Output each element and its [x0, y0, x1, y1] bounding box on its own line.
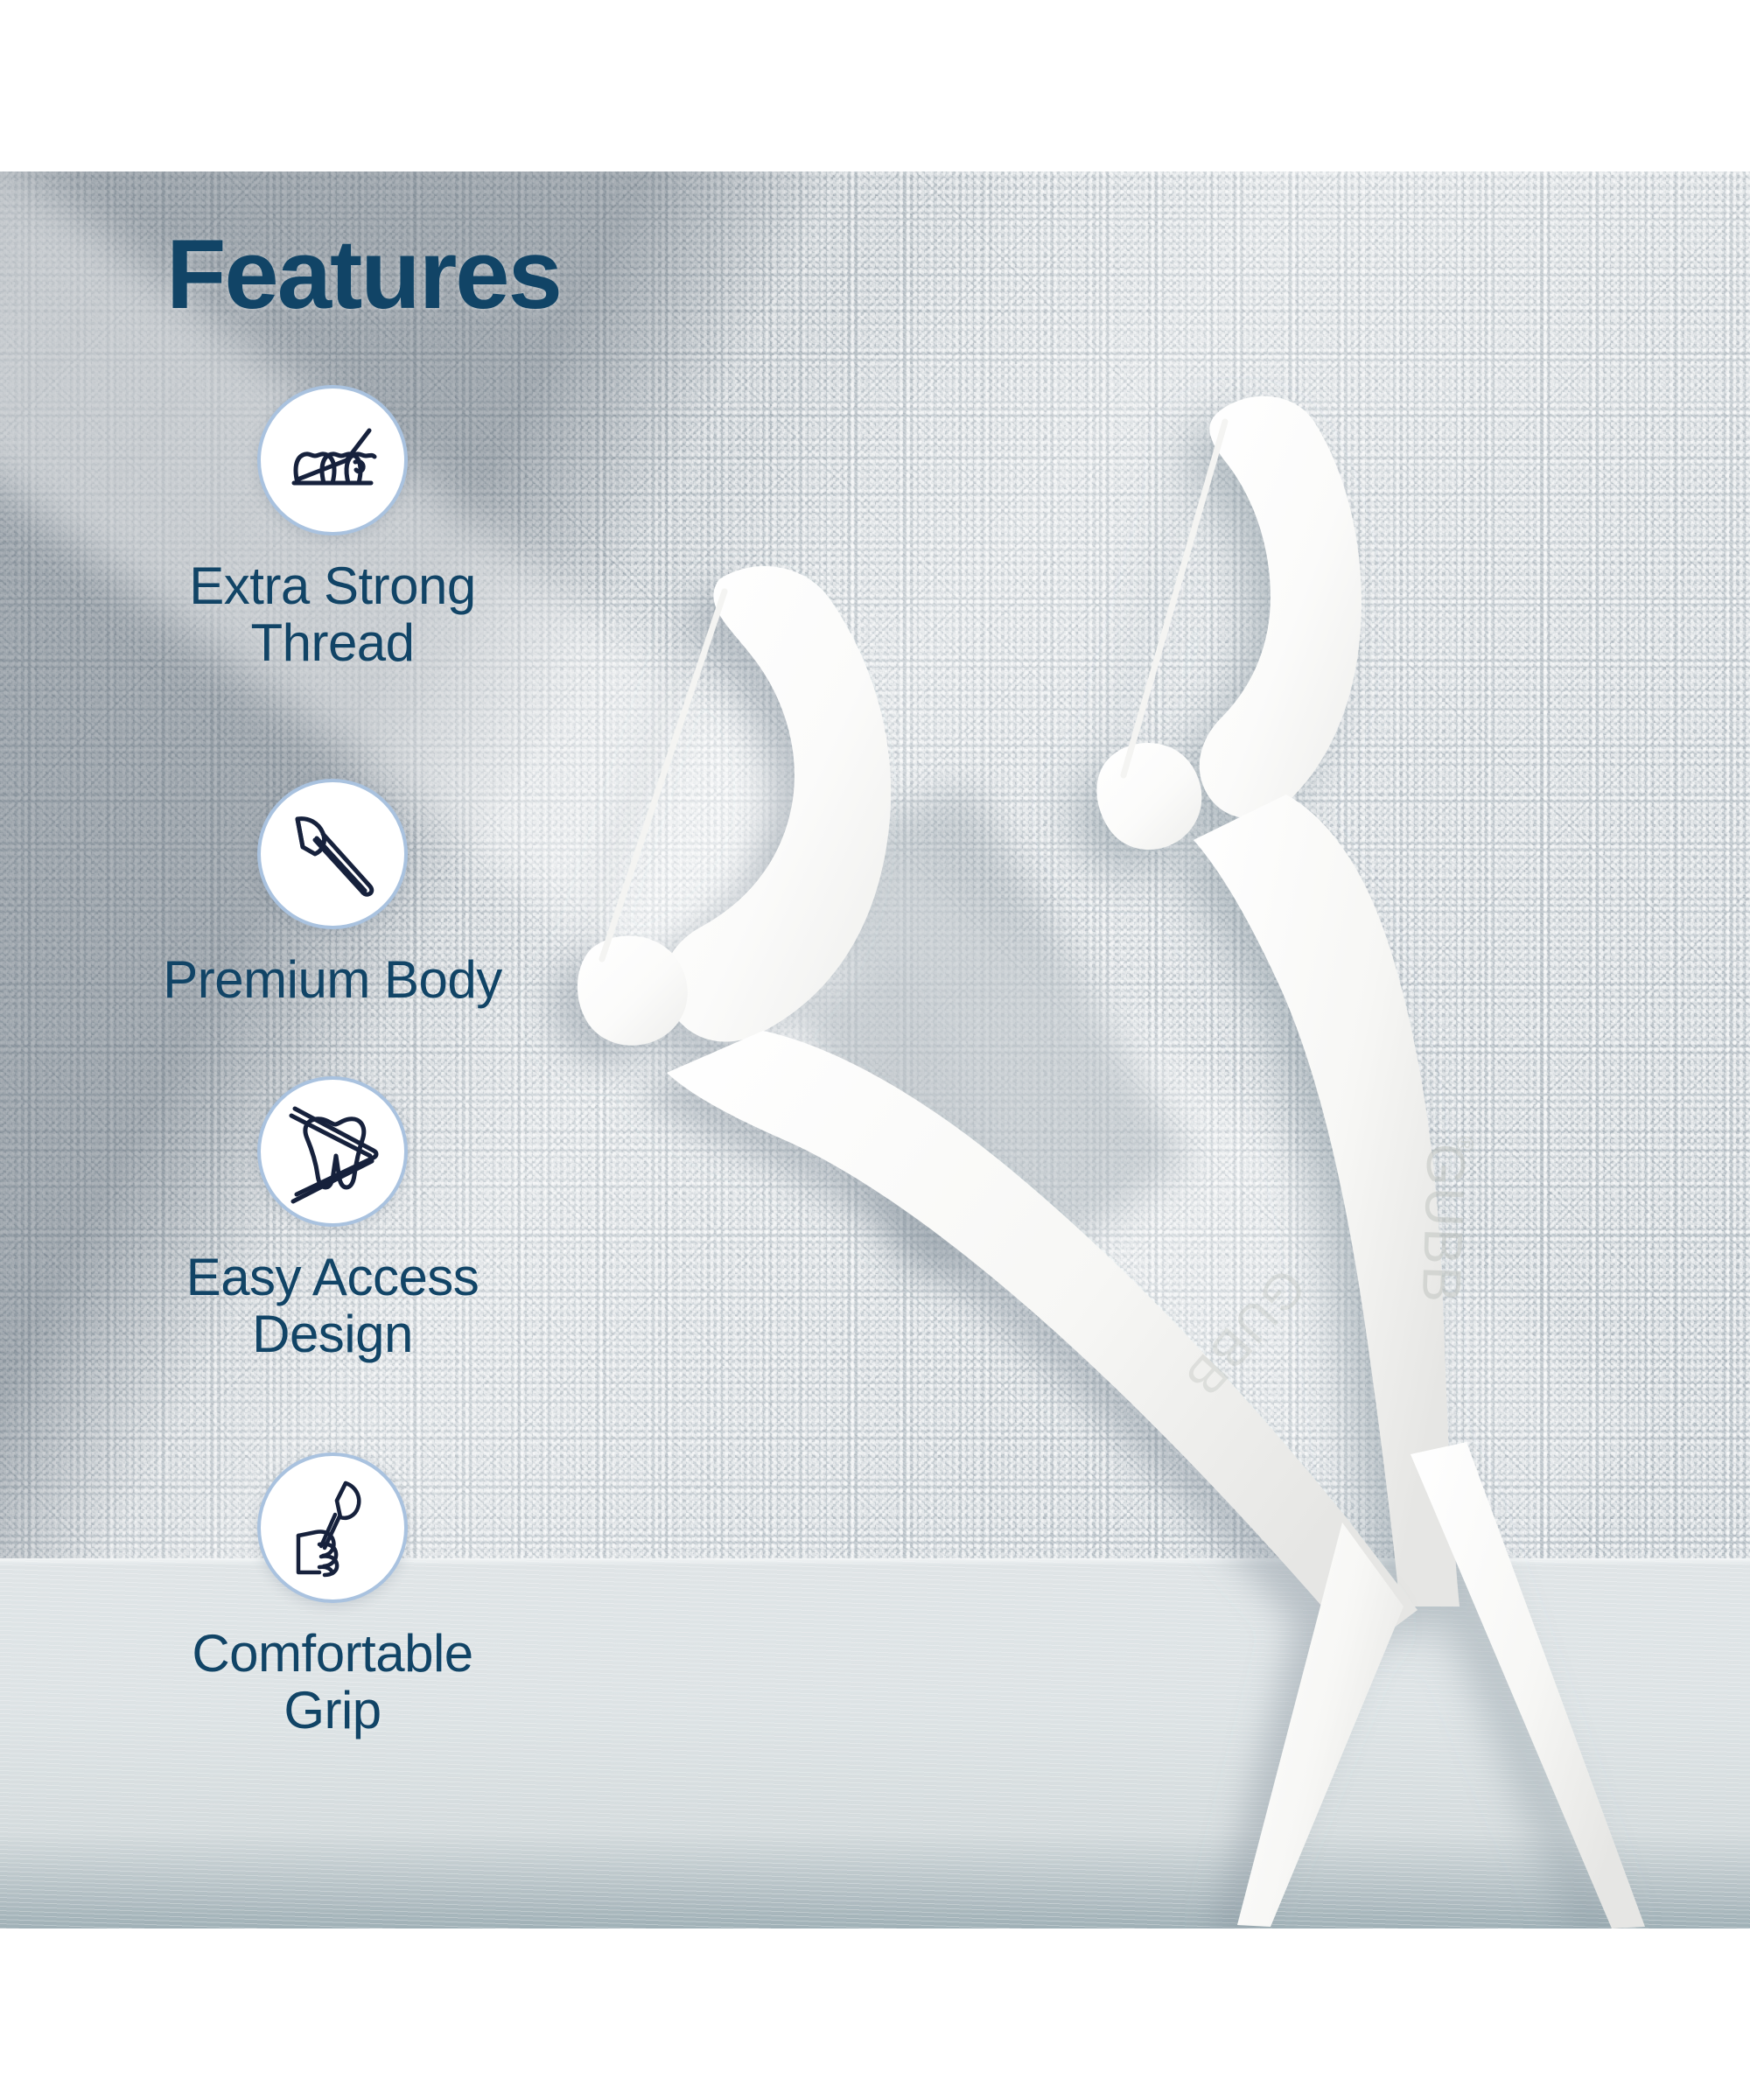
page-title: Features	[166, 226, 561, 324]
feature-icon-circle	[257, 385, 408, 535]
feature-label: Comfortable Grip	[17, 1626, 647, 1739]
feature-item-premium-body: Premium Body	[17, 779, 647, 1009]
features-overlay: Features Extra Strong Thread	[0, 0, 1750, 2100]
feature-icon-circle	[257, 779, 408, 929]
feature-item-comfortable-grip: Comfortable Grip	[17, 1452, 647, 1739]
feature-label: Premium Body	[17, 952, 647, 1009]
feature-label: Easy Access Design	[17, 1249, 647, 1363]
floss-pick-icon	[282, 803, 383, 905]
feature-icon-circle	[257, 1076, 408, 1227]
feature-icon-circle	[257, 1452, 408, 1603]
hand-holding-pick-icon	[281, 1476, 384, 1579]
tooth-with-pick-icon	[279, 1098, 386, 1205]
product-feature-image: GUBB ® GUBB Features	[0, 0, 1750, 2100]
feature-item-extra-strong-thread: Extra Strong Thread	[17, 385, 647, 672]
feature-item-easy-access-design: Easy Access Design	[17, 1076, 647, 1363]
teeth-floss-icon	[280, 408, 385, 513]
feature-label: Extra Strong Thread	[17, 558, 647, 672]
